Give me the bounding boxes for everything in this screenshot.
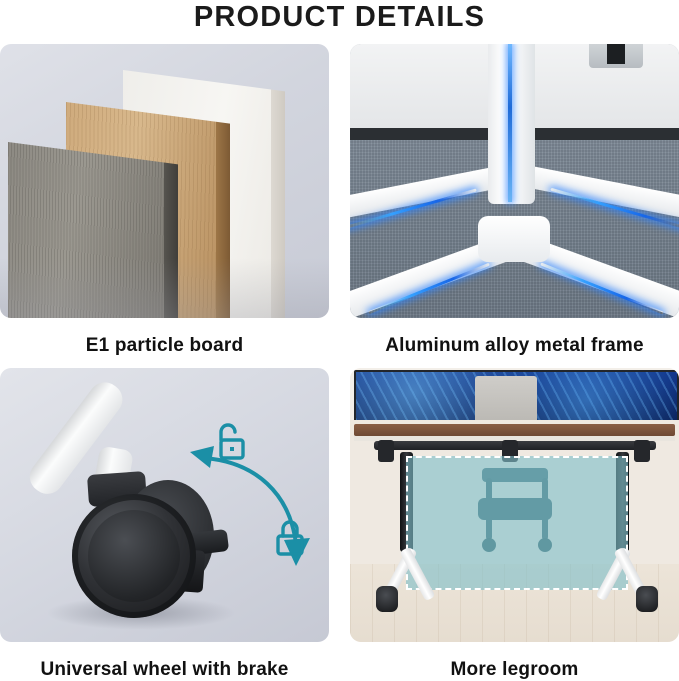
panel-more-legroom: More legroom: [350, 368, 679, 681]
caption-more-legroom: More legroom: [350, 659, 679, 681]
laptop: [475, 376, 537, 426]
caption-e1-particle-board: E1 particle board: [0, 335, 329, 357]
caster-front-wheel: [72, 494, 196, 618]
panel-universal-wheel-with-brake: Universal wheel with brake: [0, 368, 329, 681]
unlock-icon: [212, 422, 246, 462]
desk-caster-right: [636, 586, 658, 612]
frame-joint-hub: [478, 216, 550, 262]
lock-icon: [274, 518, 306, 558]
legroom-highlight-area: [406, 456, 628, 590]
panel-grid: E1 particle board Aluminum al: [0, 44, 679, 673]
desk-bracket-right: [634, 440, 650, 462]
panel-image-aluminum-frame: [350, 44, 679, 318]
desk-top: [354, 424, 675, 436]
desk-bracket-left: [378, 440, 394, 462]
panel-image-e1-particle-board: [0, 44, 329, 318]
caption-universal-wheel: Universal wheel with brake: [0, 659, 329, 681]
desk-caster-left: [376, 586, 398, 612]
panel-image-more-legroom: [350, 368, 679, 642]
panel-aluminum-alloy-metal-frame: Aluminum alloy metal frame: [350, 44, 679, 357]
caption-aluminum-frame: Aluminum alloy metal frame: [350, 335, 679, 357]
board-shadow: [0, 258, 329, 318]
frame-module: [589, 44, 643, 68]
page-title: PRODUCT DETAILS: [0, 2, 679, 32]
product-details-infographic: PRODUCT DETAILS E1 particle board: [0, 0, 679, 673]
column-blue-highlight: [508, 44, 512, 202]
panel-e1-particle-board: E1 particle board: [0, 44, 329, 357]
panel-image-universal-wheel: [0, 368, 329, 642]
